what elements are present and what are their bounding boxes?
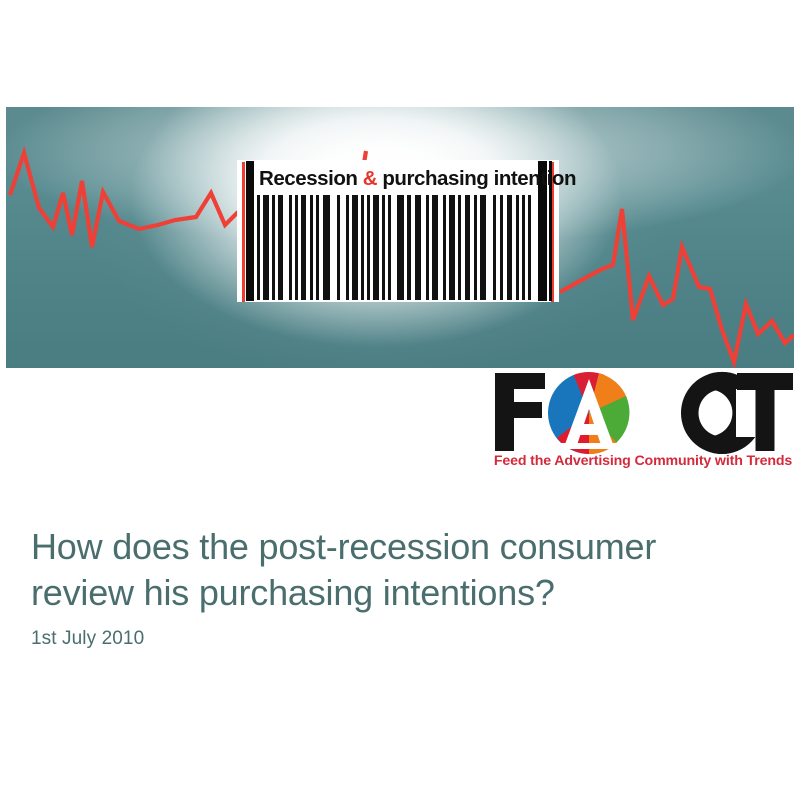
barcode-accent-line-left — [242, 162, 245, 302]
fact-logo-tagline: Feed the Advertising Community with Tren… — [491, 453, 795, 469]
slide-date: 1st July 2010 — [31, 628, 144, 650]
fact-logo: Feed the Advertising Community with Tren… — [489, 369, 795, 477]
barcode-title-ampersand: & — [363, 167, 377, 190]
page-title: How does the post-recession consumer rev… — [31, 524, 761, 616]
barcode-title-suffix: purchasing intention — [377, 167, 576, 190]
barcode-guard-bar-left — [246, 161, 254, 301]
fact-logo-mark — [489, 369, 795, 455]
barcode-bars — [257, 195, 535, 300]
logo-letter-a-circle — [537, 369, 631, 455]
barcode-title-prefix: Recession — [259, 167, 363, 190]
barcode-graphic: Recession & purchasing intention — [237, 160, 559, 302]
presentation-slide: Recession & purchasing intention — [0, 0, 800, 800]
hero-banner-image: Recession & purchasing intention — [6, 107, 794, 368]
page-title-line-2: review his purchasing intentions? — [31, 570, 761, 616]
page-title-line-1: How does the post-recession consumer — [31, 526, 656, 567]
logo-letter-f — [495, 373, 545, 451]
barcode-title-text: Recession & purchasing intention — [259, 165, 537, 193]
chart-line-right — [560, 209, 794, 362]
